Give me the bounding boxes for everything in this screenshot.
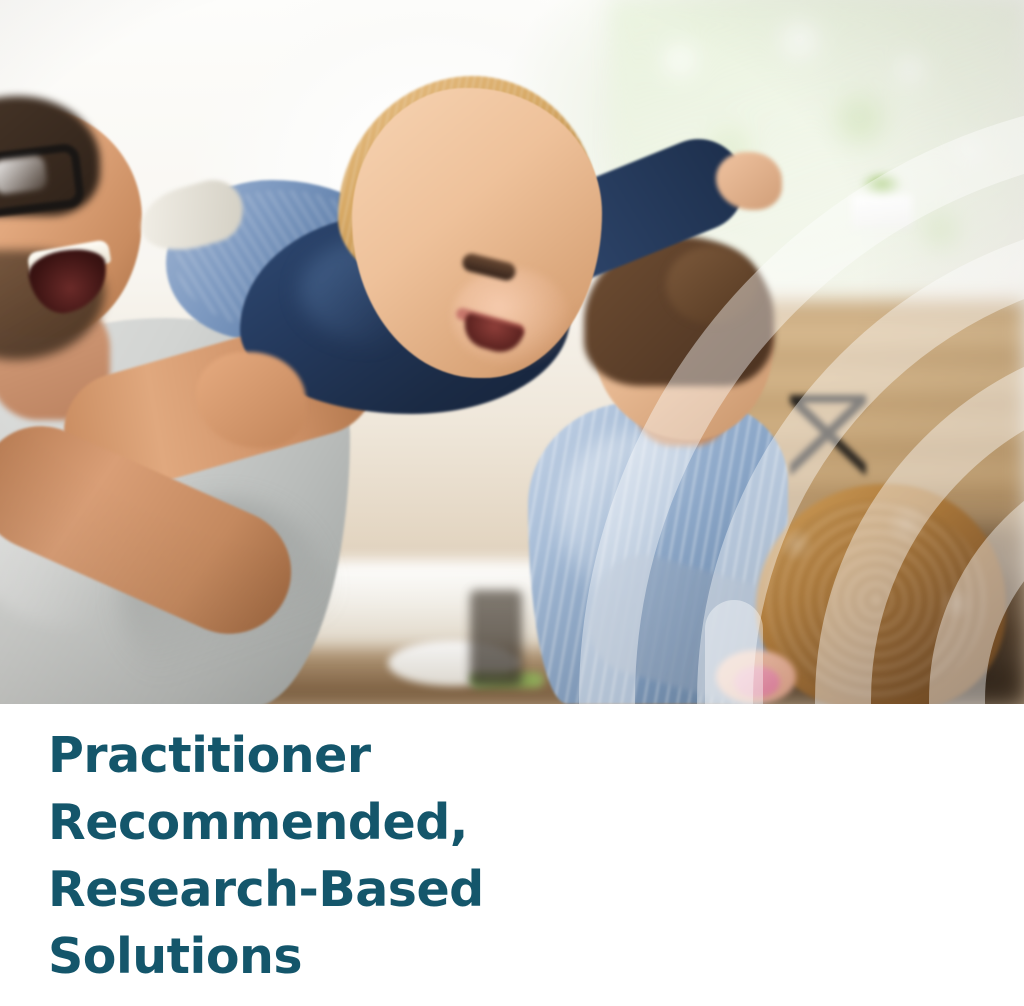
headline-line-1: Practitioner xyxy=(48,722,668,789)
hero-banner: Practitioner Recommended, Research-Based… xyxy=(0,0,1024,1006)
man-glasses-glare xyxy=(0,155,48,195)
potted-plant xyxy=(852,170,912,228)
girl-pink-object xyxy=(734,666,780,698)
headline-panel: Practitioner Recommended, Research-Based… xyxy=(0,704,1024,1006)
headline-line-3: Research-Based xyxy=(48,856,668,923)
girl-hair-texture xyxy=(766,500,986,700)
headline-line-2: Recommended, xyxy=(48,789,668,856)
wall-shelf-bracket xyxy=(790,395,866,475)
hero-photo xyxy=(0,0,1024,704)
headline-line-4: Solutions xyxy=(48,923,668,990)
woman-hair-bun xyxy=(666,246,758,324)
counter-jar xyxy=(470,590,522,686)
page-title: Practitioner Recommended, Research-Based… xyxy=(48,722,668,990)
